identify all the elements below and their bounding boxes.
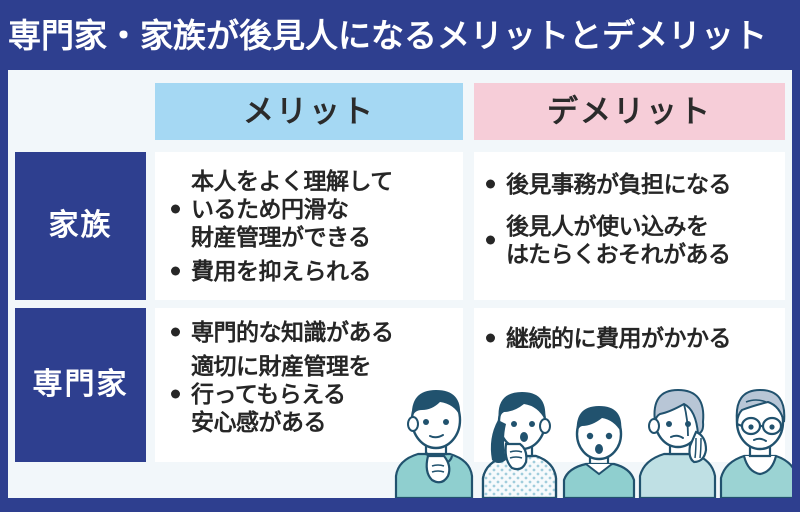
cell-family-merit: 本人をよく理解して いるため円滑な 財産管理ができる 費用を抑えられる xyxy=(155,152,463,300)
title-bar: 専門家・家族が後見人になるメリットとデメリット xyxy=(0,0,800,70)
column-header-demerit: デメリット xyxy=(474,83,785,140)
bullet-list: 専門的な知識がある 適切に財産管理を 行ってもらえる 安心感がある xyxy=(169,318,455,436)
row-label-expert-text: 専門家 xyxy=(33,370,129,400)
row-label-family: 家族 xyxy=(15,152,146,300)
list-item: 後見人が使い込みを はたらくおそれがある xyxy=(484,212,777,268)
row-label-family-text: 家族 xyxy=(49,211,113,241)
right-border-strip xyxy=(792,70,800,512)
row-label-expert: 専門家 xyxy=(15,308,146,462)
bullet-list: 継続的に費用がかかる xyxy=(484,324,777,352)
infographic-root: 専門家・家族が後見人になるメリットとデメリット メリット デメリット 家族 専門… xyxy=(0,0,800,512)
list-item: 後見事務が負担になる xyxy=(484,170,777,198)
list-item: 専門的な知識がある xyxy=(169,318,455,346)
bullet-list: 本人をよく理解して いるため円滑な 財産管理ができる 費用を抑えられる xyxy=(169,167,455,285)
cell-expert-merit: 専門的な知識がある 適切に財産管理を 行ってもらえる 安心感がある xyxy=(155,308,463,462)
list-item: 本人をよく理解して いるため円滑な 財産管理ができる xyxy=(169,167,455,251)
comparison-table: メリット デメリット 家族 専門家 本人をよく理解して いるため円滑な 財産管理… xyxy=(8,70,792,498)
bottom-border-strip xyxy=(0,498,800,512)
column-header-merit: メリット xyxy=(155,83,463,140)
bullet-list: 後見事務が負担になる 後見人が使い込みを はたらくおそれがある xyxy=(484,170,777,268)
column-header-merit-label: メリット xyxy=(243,96,375,127)
cell-family-demerit: 後見事務が負担になる 後見人が使い込みを はたらくおそれがある xyxy=(474,152,785,300)
list-item: 継続的に費用がかかる xyxy=(484,324,777,352)
left-border-strip xyxy=(0,70,8,512)
cell-expert-demerit: 継続的に費用がかかる xyxy=(474,308,785,462)
page-title: 専門家・家族が後見人になるメリットとデメリット xyxy=(8,19,767,52)
column-header-demerit-label: デメリット xyxy=(547,96,712,127)
list-item: 費用を抑えられる xyxy=(169,257,455,285)
list-item: 適切に財産管理を 行ってもらえる 安心感がある xyxy=(169,352,455,436)
